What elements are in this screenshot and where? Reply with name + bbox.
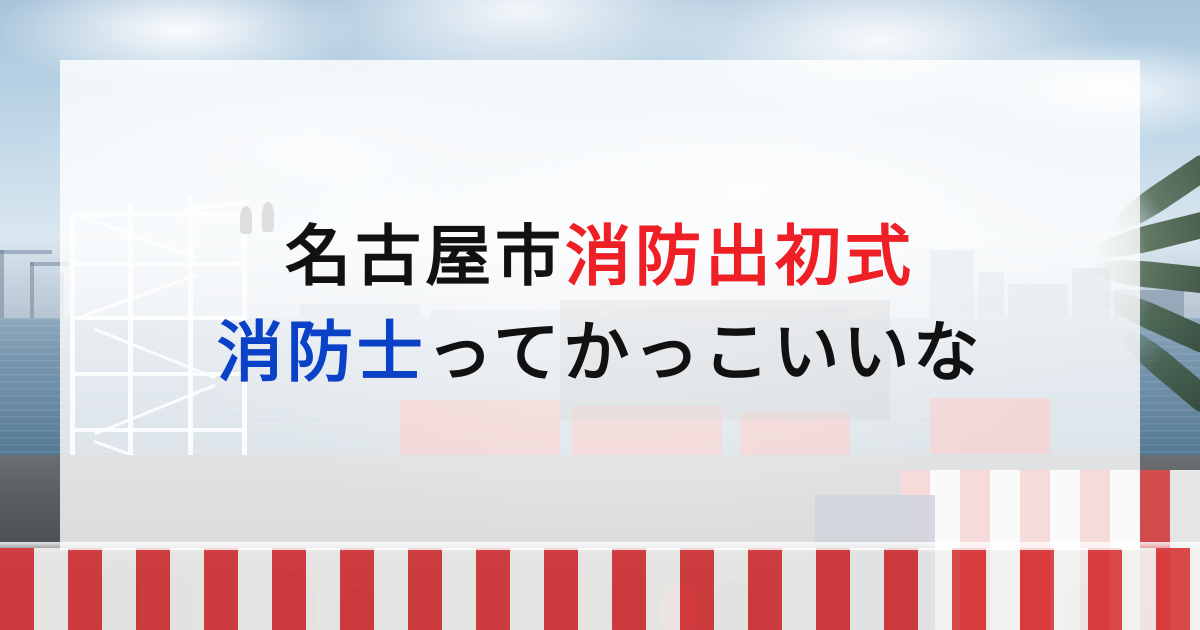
thumbnail-canvas: 名古屋市消防出初式 消防士ってかっこいいな bbox=[0, 0, 1200, 630]
title-overlay-card: 名古屋市消防出初式 消防士ってかっこいいな bbox=[60, 60, 1140, 550]
title-line-1: 名古屋市消防出初式 bbox=[285, 218, 915, 296]
port-crane bbox=[0, 250, 52, 254]
port-crane bbox=[0, 250, 4, 318]
title-line-1-segment-event: 消防出初式 bbox=[565, 219, 915, 293]
title-line-1-segment-city: 名古屋市 bbox=[285, 219, 565, 293]
title-line-2-segment-phrase: ってかっこいいな bbox=[427, 315, 983, 389]
port-crane bbox=[30, 262, 34, 318]
festival-curtain bbox=[0, 548, 1200, 630]
title-line-2: 消防士ってかっこいいな bbox=[217, 314, 983, 392]
title-line-2-segment-firefighter: 消防士 bbox=[217, 315, 427, 389]
